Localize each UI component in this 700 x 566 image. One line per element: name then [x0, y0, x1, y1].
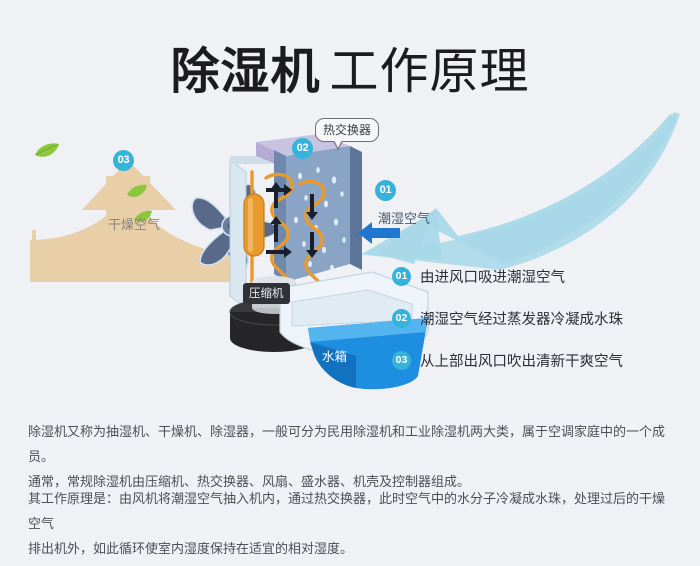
callout-heat-exchanger: 热交换器 — [315, 118, 379, 142]
body-paragraph-2: 其工作原理是：由风机将潮湿空气抽入机内，通过热交换器，此时空气中的水分子冷凝成水… — [28, 487, 676, 562]
label-dry-air: 干燥空气 — [108, 214, 160, 233]
leaf-icon — [126, 184, 148, 200]
legend-text-02: 潮湿空气经过蒸发器冷凝成水珠 — [420, 308, 623, 329]
tag-water-tank: 水箱 — [322, 346, 347, 365]
legend-list: 01 由进风口吸进潮湿空气 02 潮湿空气经过蒸发器冷凝成水珠 03 从上部出风… — [392, 255, 692, 381]
badge-outlet-03: 03 — [113, 150, 134, 171]
leaf-icon — [34, 142, 60, 160]
tag-compressor: 压缩机 — [243, 283, 290, 304]
title-part-1: 除湿机 — [170, 43, 320, 100]
label-humid-air: 潮湿空气 — [378, 208, 430, 227]
legend-badge-02: 02 — [392, 309, 411, 328]
list-item: 03 从上部出风口吹出清新干爽空气 — [392, 339, 692, 381]
legend-text-01: 由进风口吸进潮湿空气 — [420, 266, 565, 287]
body-paragraph-1: 除湿机又称为抽湿机、干燥机、除湿器，一般可分为民用除湿机和工业除湿机两大类，属于… — [28, 420, 676, 495]
list-item: 01 由进风口吸进潮湿空气 — [392, 255, 692, 297]
legend-text-03: 从上部出风口吹出清新干爽空气 — [420, 350, 623, 371]
paragraph-2-line-1: 其工作原理是：由风机将潮湿空气抽入机内，通过热交换器，此时空气中的水分子冷凝成水… — [28, 487, 676, 537]
infographic-page: 除湿机工作原理 — [0, 0, 700, 566]
badge-intake-01: 01 — [375, 180, 396, 201]
badge-exchanger-02: 02 — [292, 138, 313, 159]
title-part-2: 工作原理 — [330, 43, 530, 100]
page-title: 除湿机工作原理 — [0, 32, 700, 103]
legend-badge-03: 03 — [392, 351, 411, 370]
paragraph-2-line-2: 排出机外，如此循环使室内湿度保持在适宜的相对湿度。 — [28, 537, 676, 562]
legend-badge-01: 01 — [392, 267, 411, 286]
list-item: 02 潮湿空气经过蒸发器冷凝成水珠 — [392, 297, 692, 339]
paragraph-1-line-1: 除湿机又称为抽湿机、干燥机、除湿器，一般可分为民用除湿机和工业除湿机两大类，属于… — [28, 420, 676, 470]
